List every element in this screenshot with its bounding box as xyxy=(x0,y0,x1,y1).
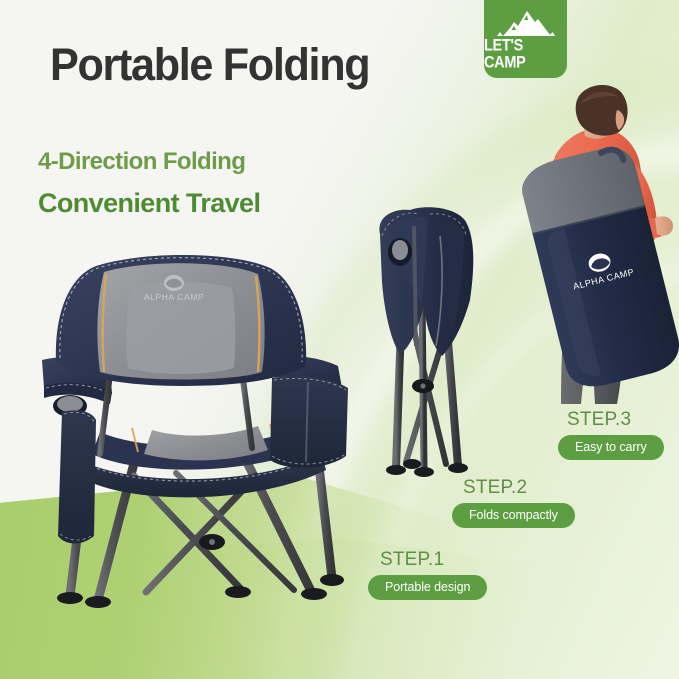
chair-folded-image xyxy=(366,196,496,496)
page-title: Portable Folding xyxy=(50,42,369,87)
product-poster: LET'S CAMP Portable Folding 4-Direction … xyxy=(0,0,679,679)
person-carrying-image: ALPHA CAMP xyxy=(521,82,679,410)
chair-open-image: ALPHA CAMP xyxy=(26,248,356,618)
step-2-pill[interactable]: Folds compactly xyxy=(452,503,575,528)
step-1-pill[interactable]: Portable design xyxy=(368,575,487,600)
step-2: STEP.2 Folds compactly xyxy=(452,477,575,528)
subtitle-secondary: Convenient Travel xyxy=(38,188,260,219)
brand-logo-badge: LET'S CAMP xyxy=(484,0,567,78)
step-2-title: STEP.2 xyxy=(463,477,575,499)
subtitle-primary: 4-Direction Folding xyxy=(38,148,245,176)
svg-text:ALPHA CAMP: ALPHA CAMP xyxy=(144,292,204,302)
step-3-title: STEP.3 xyxy=(567,409,664,431)
step-3-pill[interactable]: Easy to carry xyxy=(558,435,664,460)
mountain-icon xyxy=(497,9,555,39)
step-3: STEP.3 Easy to carry xyxy=(558,409,664,460)
step-1: STEP.1 Portable design xyxy=(368,549,487,600)
brand-logo-text: LET'S CAMP xyxy=(484,38,567,70)
step-1-title: STEP.1 xyxy=(380,549,487,571)
